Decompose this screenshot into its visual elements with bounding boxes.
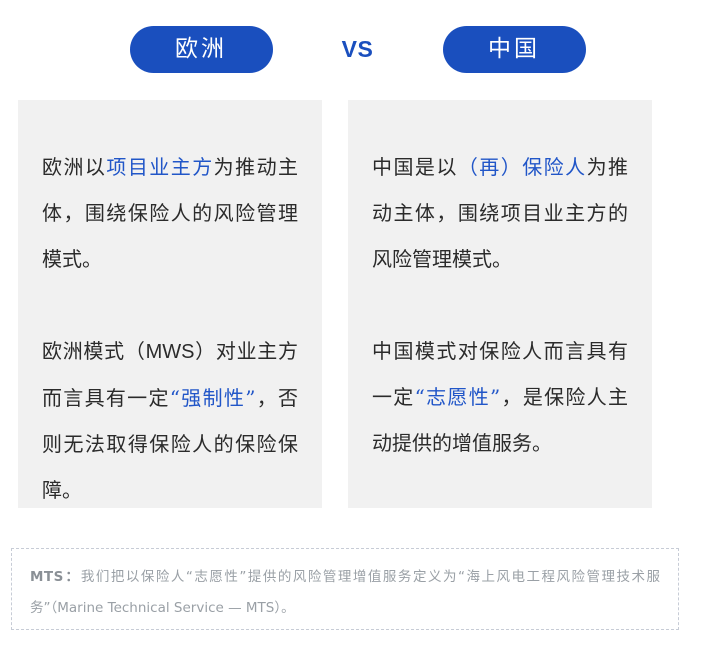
text-segment: 欧洲以 (42, 155, 106, 179)
comparison-cards: 欧洲以项目业主方为推动主体，围绕保险人的风险管理模式。 欧洲模式（MWS）对业主… (18, 100, 652, 508)
card-china-paragraph-1: 中国是以（再）保险人为推动主体，围绕项目业主方的风险管理模式。 (372, 144, 628, 282)
acronym-mws: MWS (146, 341, 195, 363)
pill-europe[interactable]: 欧洲 (130, 26, 273, 73)
card-europe: 欧洲以项目业主方为推动主体，围绕保险人的风险管理模式。 欧洲模式（MWS）对业主… (18, 100, 322, 508)
highlight-phrase: “志愿性” (415, 385, 501, 409)
highlight-phrase: “强制性” (170, 386, 256, 410)
footnote-text: MTS：我们把以保险人“志愿性”提供的风险管理增值服务定义为“海上风电工程风险管… (30, 562, 660, 624)
footnote-box: MTS：我们把以保险人“志愿性”提供的风险管理增值服务定义为“海上风电工程风险管… (11, 548, 679, 630)
highlight-phrase: （再）保险人 (458, 155, 587, 179)
vs-separator-label: VS (273, 36, 443, 63)
pill-china-label: 中国 (488, 38, 540, 61)
card-europe-paragraph-2: 欧洲模式（MWS）对业主方而言具有一定“强制性”，否则无法取得保险人的保险保障。 (42, 328, 298, 513)
pill-china[interactable]: 中国 (443, 26, 586, 73)
footnote-tag: MTS： (30, 569, 81, 585)
text-segment: 欧洲模式（ (42, 339, 146, 363)
card-europe-paragraph-1: 欧洲以项目业主方为推动主体，围绕保险人的风险管理模式。 (42, 144, 298, 282)
highlight-phrase: 项目业主方 (106, 155, 213, 179)
text-segment: 中国是以 (372, 155, 458, 179)
pill-europe-label: 欧洲 (175, 38, 227, 61)
card-china-paragraph-2: 中国模式对保险人而言具有一定“志愿性”，是保险人主动提供的增值服务。 (372, 328, 628, 466)
footnote-body: 我们把以保险人“志愿性”提供的风险管理增值服务定义为“海上风电工程风险管理技术服… (30, 569, 660, 616)
card-china: 中国是以（再）保险人为推动主体，围绕项目业主方的风险管理模式。 中国模式对保险人… (348, 100, 652, 508)
comparison-header: 欧洲 VS 中国 (0, 0, 713, 98)
